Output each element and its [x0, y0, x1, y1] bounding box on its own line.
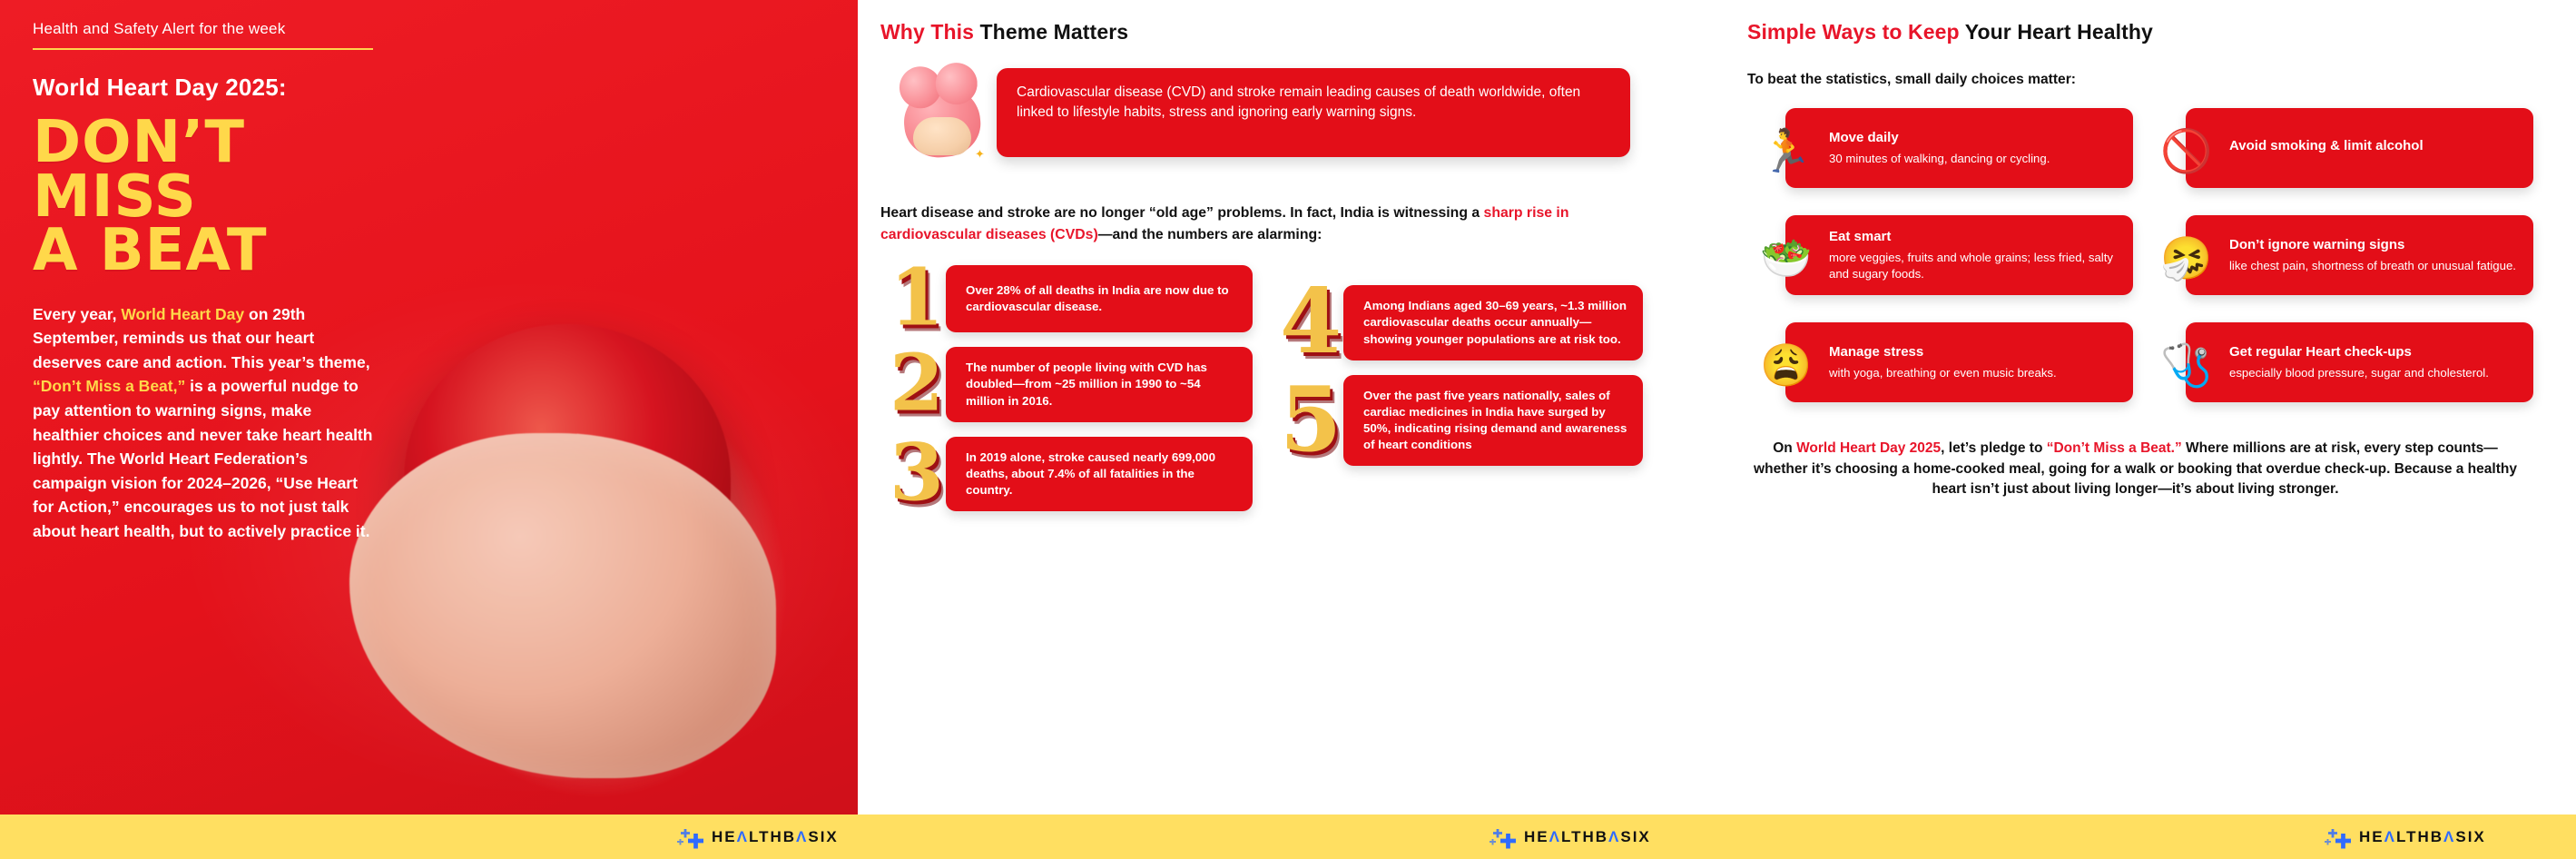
stat-text: Over the past five years nationally, sal…: [1343, 375, 1643, 466]
stats-column-right: 4Among Indians aged 30–69 years, ~1.3 mi…: [1280, 285, 1643, 480]
logo-text-part: SIX: [1620, 828, 1650, 845]
tip-description: with yoga, breathing or even music break…: [1829, 365, 2117, 381]
stat-number: 1: [890, 267, 944, 331]
tip-item: 🏃Move daily30 minutes of walking, dancin…: [1747, 108, 2133, 192]
middle-intro-text: Heart disease and stroke are no longer “…: [880, 202, 1607, 245]
brand-logo-text: HEΛLTHBΛSIX: [712, 828, 839, 846]
logo-text-part: Λ: [2443, 828, 2455, 845]
left-body-text: Every year, World Heart Day on 29th Sept…: [33, 302, 378, 544]
highlighted-text: World Heart Day 2025: [1796, 440, 1941, 456]
brand-logo-text: HEΛLTHBΛSIX: [1524, 828, 1651, 846]
why-theme-matters-panel: Why This Theme Matters ✦ ✦ ✦ Cardiovascu…: [880, 0, 1643, 815]
closing-pledge-text: On World Heart Day 2025, let’s pledge to…: [1747, 439, 2523, 500]
right-heading-rest: Your Heart Healthy: [1960, 20, 2153, 44]
stressed-person-icon: 😩: [1747, 328, 1825, 402]
headline-line-1: DON’T MISS: [33, 109, 245, 231]
stat-number: 3: [890, 441, 944, 506]
tip-item: 🥗Eat smartmore veggies, fruits and whole…: [1747, 215, 2133, 299]
footer-bar: HEΛLTHBΛSIX HEΛLTHBΛSIX HEΛLTHBΛSIX: [0, 815, 2576, 859]
hero-callout-row: ✦ ✦ ✦ Cardiovascular disease (CVD) and s…: [880, 68, 1643, 175]
statistics-group: 1Over 28% of all deaths in India are now…: [880, 265, 1643, 647]
stat-text: In 2019 alone, stroke caused nearly 699,…: [946, 437, 1253, 511]
highlighted-text: “Don’t Miss a Beat.”: [2047, 440, 2182, 456]
logo-text-part: Λ: [2384, 828, 2396, 845]
body-text: Every year,: [33, 305, 121, 323]
running-person-icon: 🏃: [1747, 114, 1825, 188]
stat-number: 2: [890, 352, 944, 417]
stat-number: 5: [1280, 384, 1342, 457]
stats-column-left: 1Over 28% of all deaths in India are now…: [890, 265, 1253, 525]
middle-heading-accent: Why This: [880, 20, 974, 44]
alert-kicker: Health and Safety Alert for the week: [33, 20, 390, 48]
logo-text-part: HE: [1524, 828, 1549, 845]
tips-grid: 🏃Move daily30 minutes of walking, dancin…: [1747, 108, 2546, 406]
kicker-divider: [33, 48, 373, 50]
body-text: Heart disease and stroke are no longer “…: [880, 205, 1484, 221]
tip-card: Eat smartmore veggies, fruits and whole …: [1785, 215, 2133, 295]
health-cross-icon: [676, 825, 703, 849]
tip-description: especially blood pressure, sugar and cho…: [2229, 365, 2517, 381]
tip-item: 🤧Don’t ignore warning signslike chest pa…: [2148, 215, 2533, 299]
tip-card: Move daily30 minutes of walking, dancing…: [1785, 108, 2133, 188]
stat-text: The number of people living with CVD has…: [946, 347, 1253, 421]
tip-item: 🩺Get regular Heart check-upsespecially b…: [2148, 322, 2533, 406]
logo-text-part: SIX: [808, 828, 838, 845]
logo-text-part: Λ: [796, 828, 808, 845]
health-cross-icon: [2324, 825, 2351, 849]
heart-stethoscope-icon: 🩺: [2148, 328, 2226, 402]
logo-text-part: LTHB: [2396, 828, 2443, 845]
brand-logo[interactable]: HEΛLTHBΛSIX: [676, 825, 839, 849]
logo-text-part: LTHB: [1561, 828, 1608, 845]
brand-logo-text: HEΛLTHBΛSIX: [2359, 828, 2486, 846]
stat-text: Among Indians aged 30–69 years, ~1.3 mil…: [1343, 285, 1643, 360]
logo-text-part: HE: [2359, 828, 2384, 845]
tip-description: like chest pain, shortness of breath or …: [2229, 258, 2517, 274]
stat-text: Over 28% of all deaths in India are now …: [946, 265, 1253, 332]
simple-ways-panel: Simple Ways to Keep Your Heart Healthy T…: [1747, 0, 2546, 815]
tip-title: Get regular Heart check-ups: [2229, 344, 2517, 360]
middle-section-heading: Why This Theme Matters: [880, 20, 1643, 44]
tip-item: 😩Manage stresswith yoga, breathing or ev…: [1747, 322, 2133, 406]
tip-description: 30 minutes of walking, dancing or cyclin…: [1829, 151, 2117, 167]
tip-card: Don’t ignore warning signslike chest pai…: [2186, 215, 2533, 295]
logo-text-part: Λ: [1549, 828, 1561, 845]
right-heading-accent: Simple Ways to Keep: [1747, 20, 1960, 44]
tip-card: Manage stresswith yoga, breathing or eve…: [1785, 322, 2133, 402]
brand-logo[interactable]: HEΛLTHBΛSIX: [1489, 825, 1651, 849]
body-text: , let’s pledge to: [1941, 440, 2047, 456]
stat-item: 1Over 28% of all deaths in India are now…: [890, 265, 1253, 332]
stat-item: 2The number of people living with CVD ha…: [890, 347, 1253, 421]
body-text: —and the numbers are alarming:: [1098, 227, 1322, 242]
left-hero-panel: Health and Safety Alert for the week Wor…: [0, 0, 858, 815]
sick-person-icon: 🤧: [2148, 221, 2226, 295]
salad-bowl-icon: 🥗: [1747, 221, 1825, 295]
highlighted-text: World Heart Day: [121, 305, 244, 323]
logo-text-part: Λ: [737, 828, 749, 845]
stat-item: 4Among Indians aged 30–69 years, ~1.3 mi…: [1280, 285, 1643, 360]
cvd-hero-callout: Cardiovascular disease (CVD) and stroke …: [997, 68, 1630, 157]
logo-text-part: SIX: [2455, 828, 2485, 845]
tip-card: Get regular Heart check-upsespecially bl…: [2186, 322, 2533, 402]
tip-title: Don’t ignore warning signs: [2229, 237, 2517, 253]
right-section-heading: Simple Ways to Keep Your Heart Healthy: [1747, 20, 2546, 44]
body-text: On: [1773, 440, 1796, 456]
sparkle-icon: ✦: [975, 148, 985, 160]
body-text: is a powerful nudge to pay attention to …: [33, 377, 372, 540]
hugging-heart-icon: ✦ ✦ ✦: [888, 70, 995, 172]
middle-heading-rest: Theme Matters: [974, 20, 1128, 44]
right-intro-text: To beat the statistics, small daily choi…: [1747, 72, 2546, 88]
brand-logo[interactable]: HEΛLTHBΛSIX: [2324, 825, 2486, 849]
logo-text-part: LTHB: [749, 828, 796, 845]
stat-number: 4: [1280, 286, 1342, 359]
stat-item: 3In 2019 alone, stroke caused nearly 699…: [890, 437, 1253, 511]
infographic-page: Health and Safety Alert for the week Wor…: [0, 0, 2576, 859]
no-smoking-alcohol-icon: 🚫: [2148, 114, 2226, 188]
tip-title: Avoid smoking & limit alcohol: [2229, 138, 2517, 154]
highlighted-text: “Don’t Miss a Beat,”: [33, 377, 185, 395]
page-title: World Heart Day 2025:: [33, 74, 390, 102]
tip-description: more veggies, fruits and whole grains; l…: [1829, 250, 2117, 281]
tip-title: Move daily: [1829, 130, 2117, 146]
stat-item: 5Over the past five years nationally, sa…: [1280, 375, 1643, 466]
headline-line-2: A BEAT: [33, 224, 390, 279]
logo-text-part: Λ: [1608, 828, 1620, 845]
health-cross-icon: [1489, 825, 1516, 849]
tip-title: Eat smart: [1829, 229, 2117, 245]
tip-card: Avoid smoking & limit alcohol: [2186, 108, 2533, 188]
tip-title: Manage stress: [1829, 344, 2117, 360]
logo-text-part: HE: [712, 828, 737, 845]
campaign-headline: DON’T MISS A BEAT: [33, 116, 390, 279]
tip-item: 🚫Avoid smoking & limit alcohol: [2148, 108, 2533, 192]
